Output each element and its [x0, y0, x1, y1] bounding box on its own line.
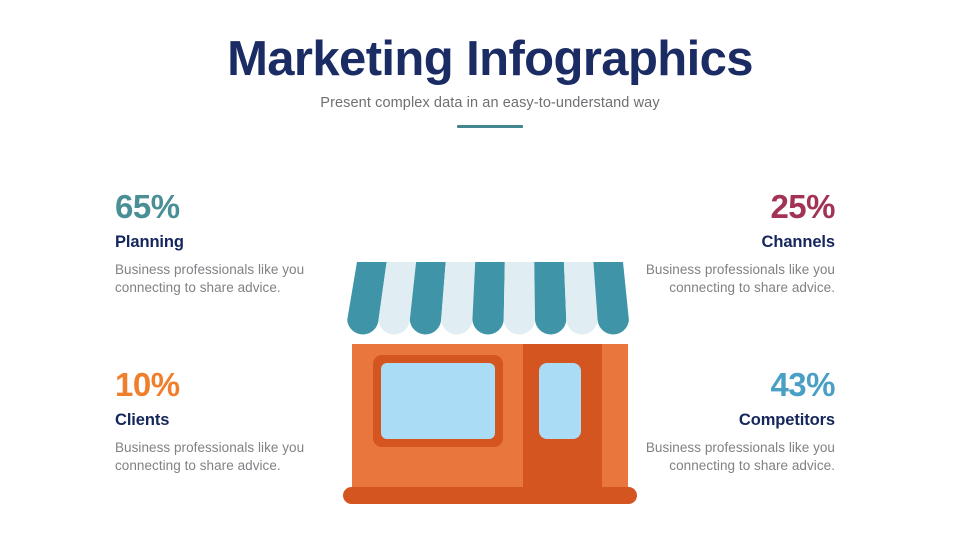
stat-percent-channels: 25%	[620, 190, 835, 224]
storefront-awning-icon	[335, 258, 645, 344]
storefront-door-glass	[539, 363, 581, 439]
stat-body-clients: Business professionals like you connecti…	[115, 439, 330, 476]
storefront-base-step	[343, 487, 637, 504]
stat-body-channels: Business professionals like you connecti…	[620, 261, 835, 298]
stat-block-clients: 10% Clients Business professionals like …	[115, 368, 330, 475]
storefront-illustration	[335, 258, 645, 508]
page-title: Marketing Infographics	[0, 34, 980, 86]
stat-percent-planning: 65%	[115, 190, 330, 224]
stat-block-channels: 25% Channels Business professionals like…	[620, 190, 835, 297]
header-divider	[457, 125, 523, 128]
stat-block-competitors: 43% Competitors Business professionals l…	[620, 368, 835, 475]
stat-percent-competitors: 43%	[620, 368, 835, 402]
header: Marketing Infographics Present complex d…	[0, 34, 980, 128]
stat-label-competitors: Competitors	[620, 411, 835, 430]
stat-body-competitors: Business professionals like you connecti…	[620, 439, 835, 476]
stat-body-planning: Business professionals like you connecti…	[115, 261, 330, 298]
stat-label-clients: Clients	[115, 411, 330, 430]
stat-block-planning: 65% Planning Business professionals like…	[115, 190, 330, 297]
infographic-slide: Marketing Infographics Present complex d…	[0, 0, 980, 551]
stat-percent-clients: 10%	[115, 368, 330, 402]
storefront-window-glass	[381, 363, 495, 439]
awning-stripe-set	[335, 258, 645, 344]
stat-label-channels: Channels	[620, 233, 835, 252]
stat-label-planning: Planning	[115, 233, 330, 252]
page-subtitle: Present complex data in an easy-to-under…	[0, 95, 980, 111]
